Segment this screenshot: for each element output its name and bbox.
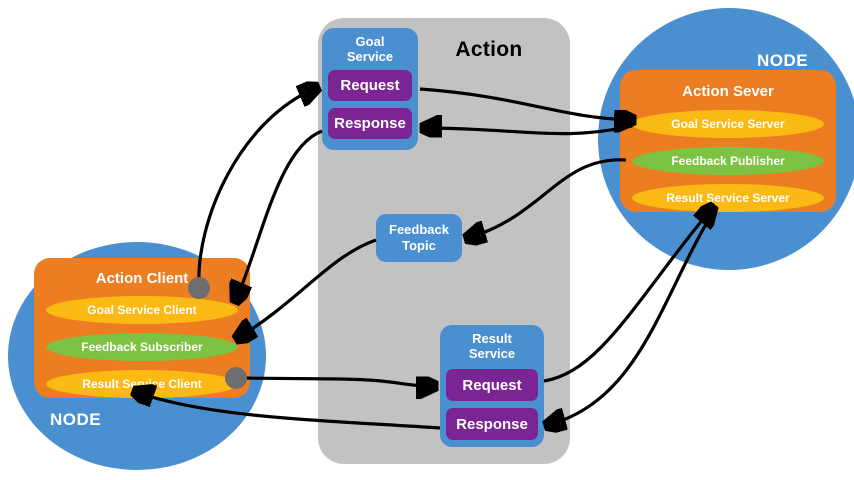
interface-result-service-client[interactable]: Result Service Client	[46, 370, 238, 398]
action-server-title: Action Sever	[620, 83, 836, 100]
feedback-topic-title-line1: Feedback	[389, 222, 449, 238]
goal-service-box: Goal Service Request Response	[322, 28, 418, 150]
goal-service-title-line2: Service	[322, 49, 418, 64]
action-server-box: Action Sever Goal Service Server Feedbac…	[620, 70, 836, 212]
result-service-title-line1: Result	[440, 331, 544, 346]
action-client-box: Action Client Goal Service Client Feedba…	[34, 258, 250, 398]
node-client-label: NODE	[50, 410, 101, 430]
goal-service-response[interactable]: Response	[328, 108, 412, 139]
interface-feedback-publisher[interactable]: Feedback Publisher	[632, 147, 824, 175]
action-panel-title: Action	[424, 38, 554, 62]
action-architecture-diagram: Action NODE Action Sever Goal Service Se…	[0, 0, 854, 480]
result-service-response[interactable]: Response	[446, 408, 538, 440]
feedback-topic-box[interactable]: Feedback Topic	[376, 214, 462, 262]
goal-service-title-line1: Goal	[322, 34, 418, 49]
interface-result-service-server[interactable]: Result Service Server	[632, 184, 824, 212]
interface-feedback-subscriber[interactable]: Feedback Subscriber	[46, 333, 238, 361]
interface-goal-service-server[interactable]: Goal Service Server	[632, 110, 824, 138]
result-service-title-line2: Service	[440, 346, 544, 361]
goal-service-request[interactable]: Request	[328, 70, 412, 101]
interface-goal-service-client[interactable]: Goal Service Client	[46, 296, 238, 324]
result-service-request[interactable]: Request	[446, 369, 538, 401]
action-client-title: Action Client	[34, 270, 250, 287]
arrow-goal-client-to-request	[199, 88, 316, 286]
node-server-label: NODE	[757, 51, 808, 71]
goal-service-title: Goal Service	[322, 34, 418, 64]
feedback-topic-title-line2: Topic	[402, 238, 436, 254]
result-service-box: Result Service Request Response	[440, 325, 544, 447]
result-service-title: Result Service	[440, 331, 544, 361]
